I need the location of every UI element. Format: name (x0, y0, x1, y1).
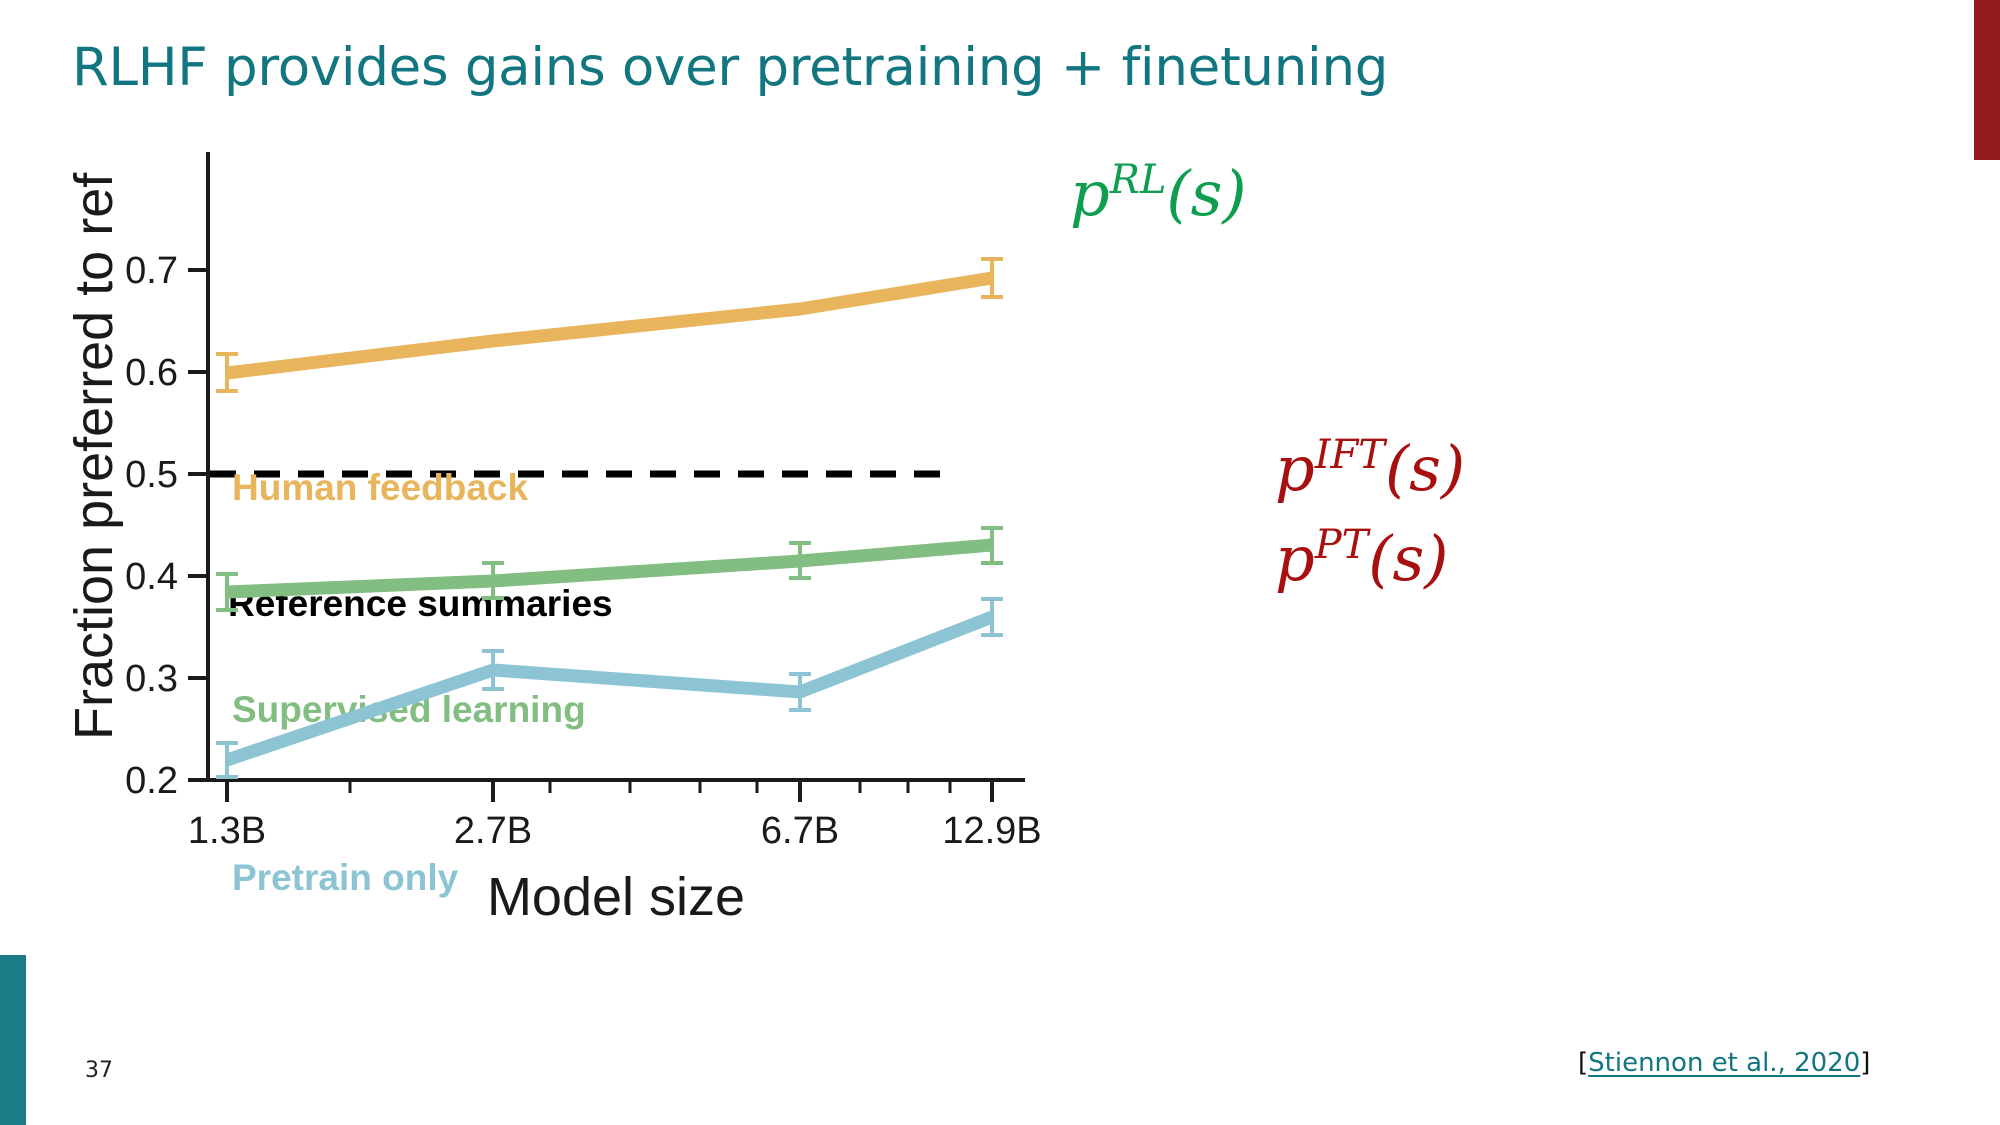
series-label-human-feedback: Human feedback (232, 467, 529, 508)
citation-link[interactable]: Stiennon et al., 2020 (1588, 1048, 1860, 1078)
y-axis-ticks: 0.2 0.3 0.4 0.5 0.6 0.7 (125, 250, 208, 802)
y-axis-title: Fraction preferred to ref (64, 172, 124, 740)
rlhf-model-size-line-chart: Fraction preferred to ref 0.2 0.3 0.4 0.… (60, 140, 1480, 1040)
x-axis-title: Model size (487, 867, 745, 927)
y-tick-label: 0.5 (125, 454, 178, 496)
math-p-pt: p (1275, 522, 1315, 595)
math-sup-pt: PT (1314, 522, 1372, 568)
math-annotation-rl: pRL(s) (1070, 157, 1247, 230)
x-tick-label: 6.7B (761, 810, 839, 852)
slide-accent-bar-bottom-left (0, 955, 26, 1125)
math-arg-pt: (s) (1368, 522, 1448, 595)
math-p-rl: p (1070, 157, 1110, 230)
y-tick-label: 0.3 (125, 658, 178, 700)
svg-text:pRL(s): pRL(s) (1070, 157, 1247, 230)
chart-figure: Fraction preferred to ref 0.2 0.3 0.4 0.… (60, 140, 1480, 1040)
math-annotation-ift: pIFT(s) (1275, 432, 1465, 505)
slide-accent-bar-top-right (1974, 0, 2000, 160)
y-tick-label: 0.4 (125, 556, 178, 598)
svg-text:pPT(s): pPT(s) (1275, 522, 1449, 595)
citation-open-bracket: [ (1578, 1048, 1588, 1078)
citation-close-bracket: ] (1860, 1048, 1870, 1078)
series-pretrain-only: Pretrain only (216, 599, 1003, 898)
y-tick-label: 0.2 (125, 760, 178, 802)
x-axis-tick-labels: 1.3B 2.7B 6.7B 12.9B (188, 810, 1042, 852)
math-arg-rl: (s) (1166, 157, 1246, 230)
x-tick-label: 2.7B (454, 810, 532, 852)
math-arg-ift: (s) (1385, 432, 1465, 505)
page-title: RLHF provides gains over pretraining + f… (72, 38, 1388, 99)
citation: [Stiennon et al., 2020] (1578, 1048, 1870, 1078)
math-sup-ift: IFT (1314, 432, 1389, 478)
page-number: 37 (85, 1058, 113, 1083)
math-p-ift: p (1275, 432, 1315, 505)
series-line-human-feedback (227, 278, 992, 373)
svg-text:pIFT(s): pIFT(s) (1275, 432, 1465, 505)
error-bars-pretrain-only (216, 599, 1003, 777)
series-supervised-learning: Supervised learning (216, 528, 1003, 730)
math-annotation-pt: pPT(s) (1275, 522, 1449, 595)
x-tick-label: 1.3B (188, 810, 266, 852)
x-tick-label: 12.9B (942, 810, 1041, 852)
math-sup-rl: RL (1109, 157, 1167, 203)
series-label-pretrain-only: Pretrain only (232, 857, 459, 898)
x-axis-ticks (227, 780, 992, 802)
y-tick-label: 0.7 (125, 250, 178, 292)
y-tick-label: 0.6 (125, 352, 178, 394)
